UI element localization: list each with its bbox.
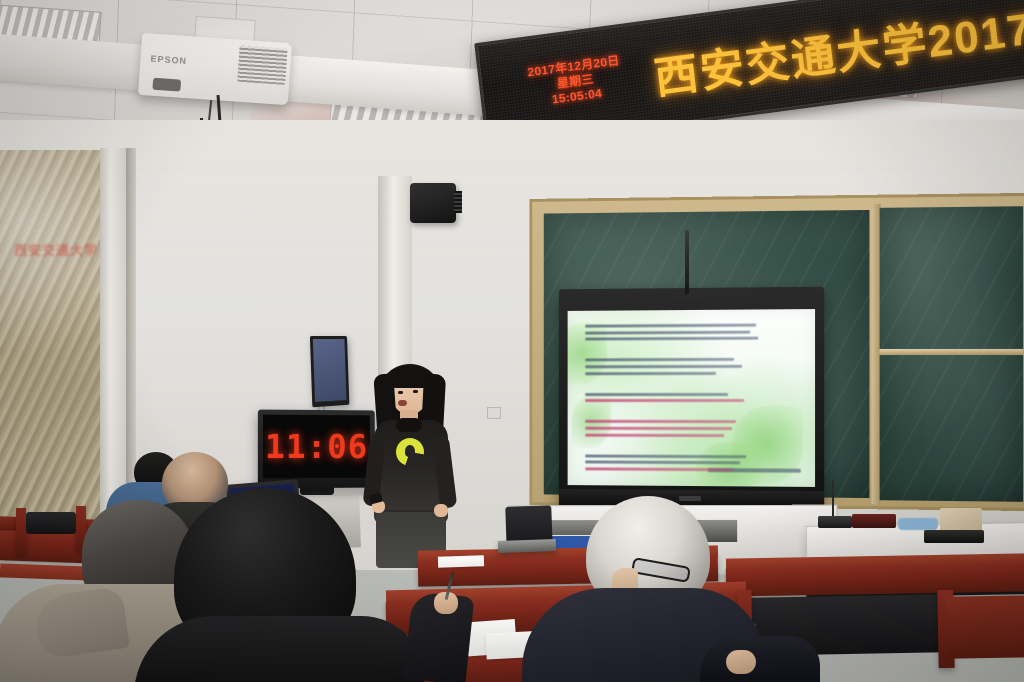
audience-member-dark-hair-foreground [150, 488, 420, 682]
projector-brand-label: EPSON [150, 53, 187, 66]
projector-vent [237, 46, 287, 85]
audience-hand [726, 650, 756, 674]
slide-text-line [585, 365, 742, 368]
presenter-eye [398, 391, 403, 394]
slide-text-line [585, 358, 734, 362]
slide-text-line [585, 461, 740, 465]
wall-speaker [410, 183, 456, 223]
slide-stanza [585, 454, 759, 475]
projector-lens [152, 78, 181, 92]
auxiliary-monitor [310, 336, 350, 407]
projection-screen [559, 287, 824, 512]
slide-stanza [585, 324, 759, 345]
wall-red-characters: 西安交通大学 [14, 240, 96, 258]
slide-text-line [585, 372, 716, 375]
slide-text-line [585, 467, 734, 471]
slide-text-line [585, 433, 724, 436]
blue-cloth [898, 518, 938, 530]
presenter-eye [413, 390, 418, 393]
slide-content [568, 309, 815, 487]
desk-microphone-stem [685, 230, 689, 298]
audience-body [134, 616, 424, 682]
slide-stanza [585, 393, 759, 406]
presenter-mouth [398, 400, 407, 406]
presenter-dress-logo [396, 438, 424, 466]
slide-text-line [585, 324, 756, 328]
slide-text-line [585, 330, 750, 334]
black-box [924, 530, 984, 543]
side-microphone-base [818, 516, 852, 528]
classroom-photo-scene: EPSON 2017年12月20日 星期三 15:05:04 西安交通大学201… [0, 0, 1024, 682]
side-microphone-rod [832, 480, 834, 518]
stone-wall-panel [0, 150, 112, 550]
desk-microphone-base [675, 294, 701, 302]
slide-text-line [585, 420, 736, 423]
auxiliary-monitor-screen [313, 339, 347, 402]
countdown-clock-display: 11:06 [258, 410, 375, 489]
slide-stanza [585, 358, 759, 378]
clock-time-text: 11:06 [265, 427, 368, 466]
slide-text-line [585, 399, 744, 402]
ceiling-projector: EPSON [138, 33, 292, 105]
led-datetime-block: 2017年12月20日 星期三 15:05:04 [514, 52, 636, 112]
audience-member-partial [700, 636, 820, 682]
bench-desk [726, 563, 1024, 596]
red-device [852, 514, 896, 528]
speaker-grille [454, 191, 462, 213]
slide-text-line [585, 337, 758, 341]
stage-chair-seat [498, 539, 556, 553]
presenter-hand-right [434, 504, 448, 517]
clock-screen: 11:06 [263, 415, 370, 479]
wall-outlet-plate [487, 407, 501, 419]
bench-side-panel [945, 595, 1024, 659]
chalkboard-rail [880, 349, 1024, 355]
slide-stanza [585, 420, 759, 440]
paper-sheet [438, 555, 484, 568]
chair-post [16, 508, 26, 554]
slide-text-line [585, 427, 732, 430]
presenter-collar [396, 418, 422, 432]
slide-text-line [585, 454, 746, 458]
slide-text-line [585, 393, 728, 396]
